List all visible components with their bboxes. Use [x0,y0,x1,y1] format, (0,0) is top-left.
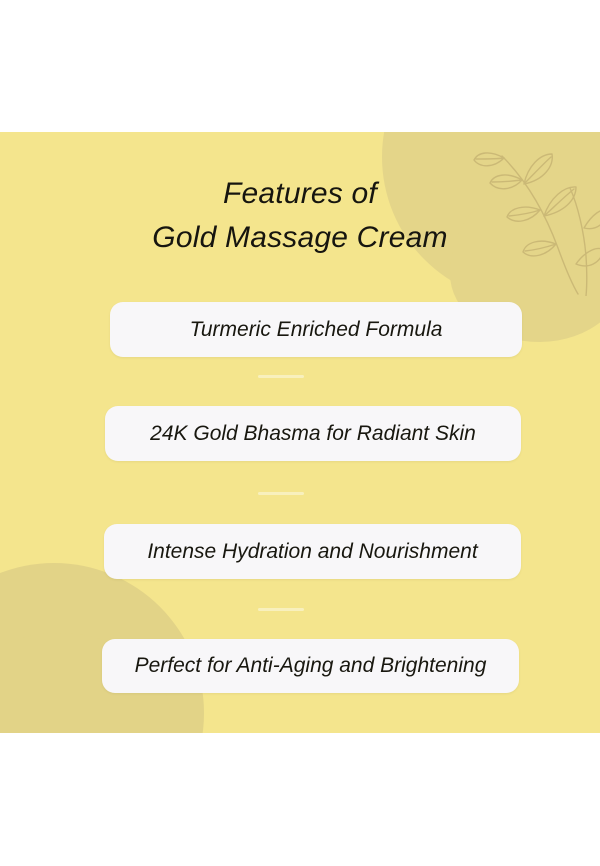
feature-card-1: Turmeric Enriched Formula [110,302,522,357]
feature-label-2: 24K Gold Bhasma for Radiant Skin [150,421,476,447]
page-title: Features of Gold Massage Cream [0,172,600,260]
feature-card-4: Perfect for Anti-Aging and Brightening [102,639,519,693]
feature-label-4: Perfect for Anti-Aging and Brightening [135,653,487,679]
feature-label-1: Turmeric Enriched Formula [190,317,443,343]
card-connector-3 [258,608,304,611]
feature-label-3: Intense Hydration and Nourishment [147,539,477,565]
feature-card-2: 24K Gold Bhasma for Radiant Skin [105,406,521,461]
infographic-canvas: Features of Gold Massage Cream Turmeric … [0,0,600,866]
feature-panel: Features of Gold Massage Cream Turmeric … [0,132,600,733]
card-connector-2 [258,492,304,495]
feature-card-3: Intense Hydration and Nourishment [104,524,521,579]
card-connector-1 [258,375,304,378]
